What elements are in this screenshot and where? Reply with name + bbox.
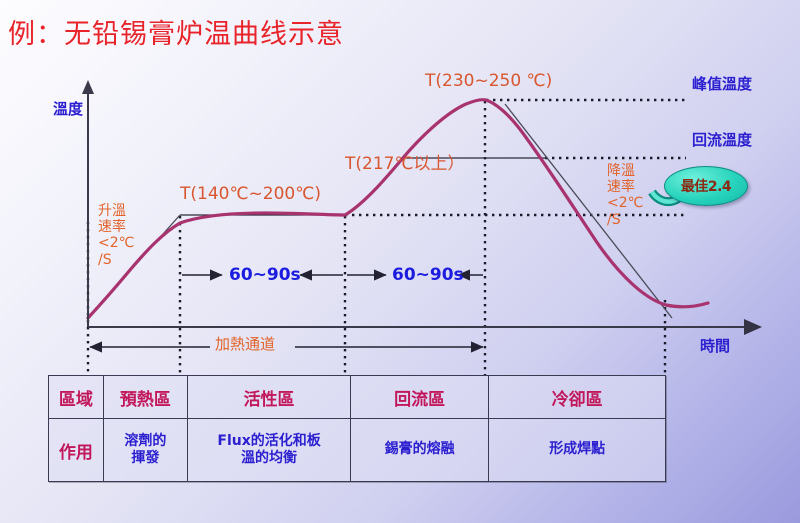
liquidus-temperature-label: T(217℃以上）: [345, 155, 465, 174]
row-header-role: 作用: [49, 419, 104, 482]
optimal-rate-text: 最佳2.4: [665, 167, 747, 205]
soak-temperature-label: T(140℃~200℃): [180, 185, 321, 204]
zone-name-reflow: 回流區: [350, 376, 488, 419]
zone-name-preheat: 預熱區: [103, 376, 187, 419]
y-axis-label: 溫度: [53, 100, 71, 119]
y-axis-arrow: [82, 80, 94, 94]
zone-name-cooling: 冷卻區: [489, 376, 666, 419]
cool-down-rate-note: 降溫 速率 <2℃ /S: [607, 163, 643, 228]
zone-role-soak: Flux的活化和板 溫的均衡: [188, 419, 351, 482]
peak-temperature-label: T(230~250 ℃): [425, 72, 552, 91]
heating-channel-label: 加熱通道: [215, 336, 275, 353]
zone-divider-lines: [88, 101, 665, 375]
zone-name-soak: 活性區: [188, 376, 351, 419]
slide-canvas: 例：无铅锡膏炉温曲线示意: [0, 0, 800, 523]
reflow-temperature-line-label: 回流溫度: [692, 132, 752, 149]
zone-role-reflow: 錫膏的熔融: [350, 419, 488, 482]
ramp-up-rate-note: 升溫 速率 <2℃ /S: [98, 203, 134, 268]
zone-role-preheat: 溶劑的 揮發: [103, 419, 187, 482]
peak-temperature-line-label: 峰值溫度: [692, 76, 752, 93]
zone-summary-table: 區域 預熱區 活性區 回流區 冷卻區 作用 溶劑的 揮發 Flux的活化和板 溫…: [48, 375, 666, 482]
ideal-cool-down-line: [505, 104, 672, 318]
optimal-rate-badge: 最佳2.4: [664, 166, 748, 206]
x-axis-label: 時間: [700, 338, 730, 355]
row-header-zone: 區域: [49, 376, 104, 419]
soak-time-label-1: 60~90s: [229, 266, 301, 285]
zone-role-cooling: 形成焊點: [489, 419, 666, 482]
table-row-zone-names: 區域 預熱區 活性區 回流區 冷卻區: [49, 376, 666, 419]
table-row-zone-roles: 作用 溶劑的 揮發 Flux的活化和板 溫的均衡 錫膏的熔融 形成焊點: [49, 419, 666, 482]
soak-time-label-2: 60~90s: [392, 266, 464, 285]
